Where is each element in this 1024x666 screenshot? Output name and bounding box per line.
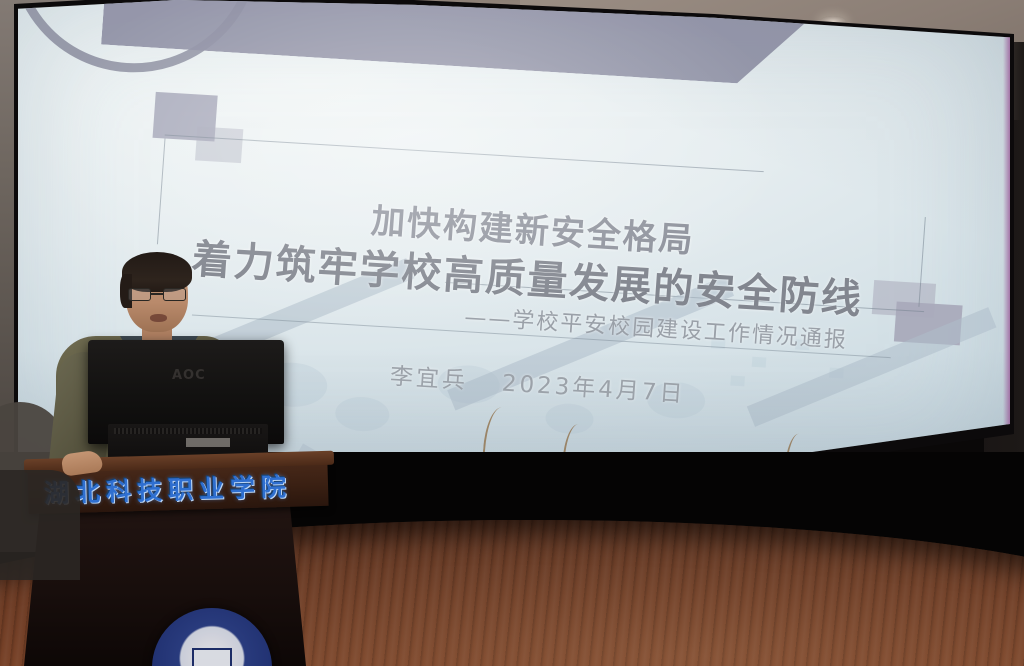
lecture-hall-photo: 加快构建新安全格局 着力筑牢学校高质量发展的安全防线 ——学校平安校园建设工作情… bbox=[0, 0, 1024, 666]
slide-byline: 李宜兵2023年4月7日 bbox=[389, 357, 687, 409]
monitor-vent bbox=[114, 428, 262, 434]
monitor-brand-label: AOC bbox=[172, 368, 206, 383]
presentation-date: 2023年4月7日 bbox=[501, 371, 686, 408]
presenter-mouth bbox=[150, 314, 167, 322]
monitor-spec-sticker bbox=[186, 438, 230, 447]
presenter-glasses-icon bbox=[128, 288, 186, 301]
seal-inner-shield bbox=[192, 648, 232, 666]
projection-edge-fringe bbox=[1003, 26, 1010, 439]
presenter-hair bbox=[122, 252, 192, 292]
foreground-silhouette-lower bbox=[0, 470, 80, 580]
presenter-name: 李宜兵 bbox=[389, 364, 469, 395]
